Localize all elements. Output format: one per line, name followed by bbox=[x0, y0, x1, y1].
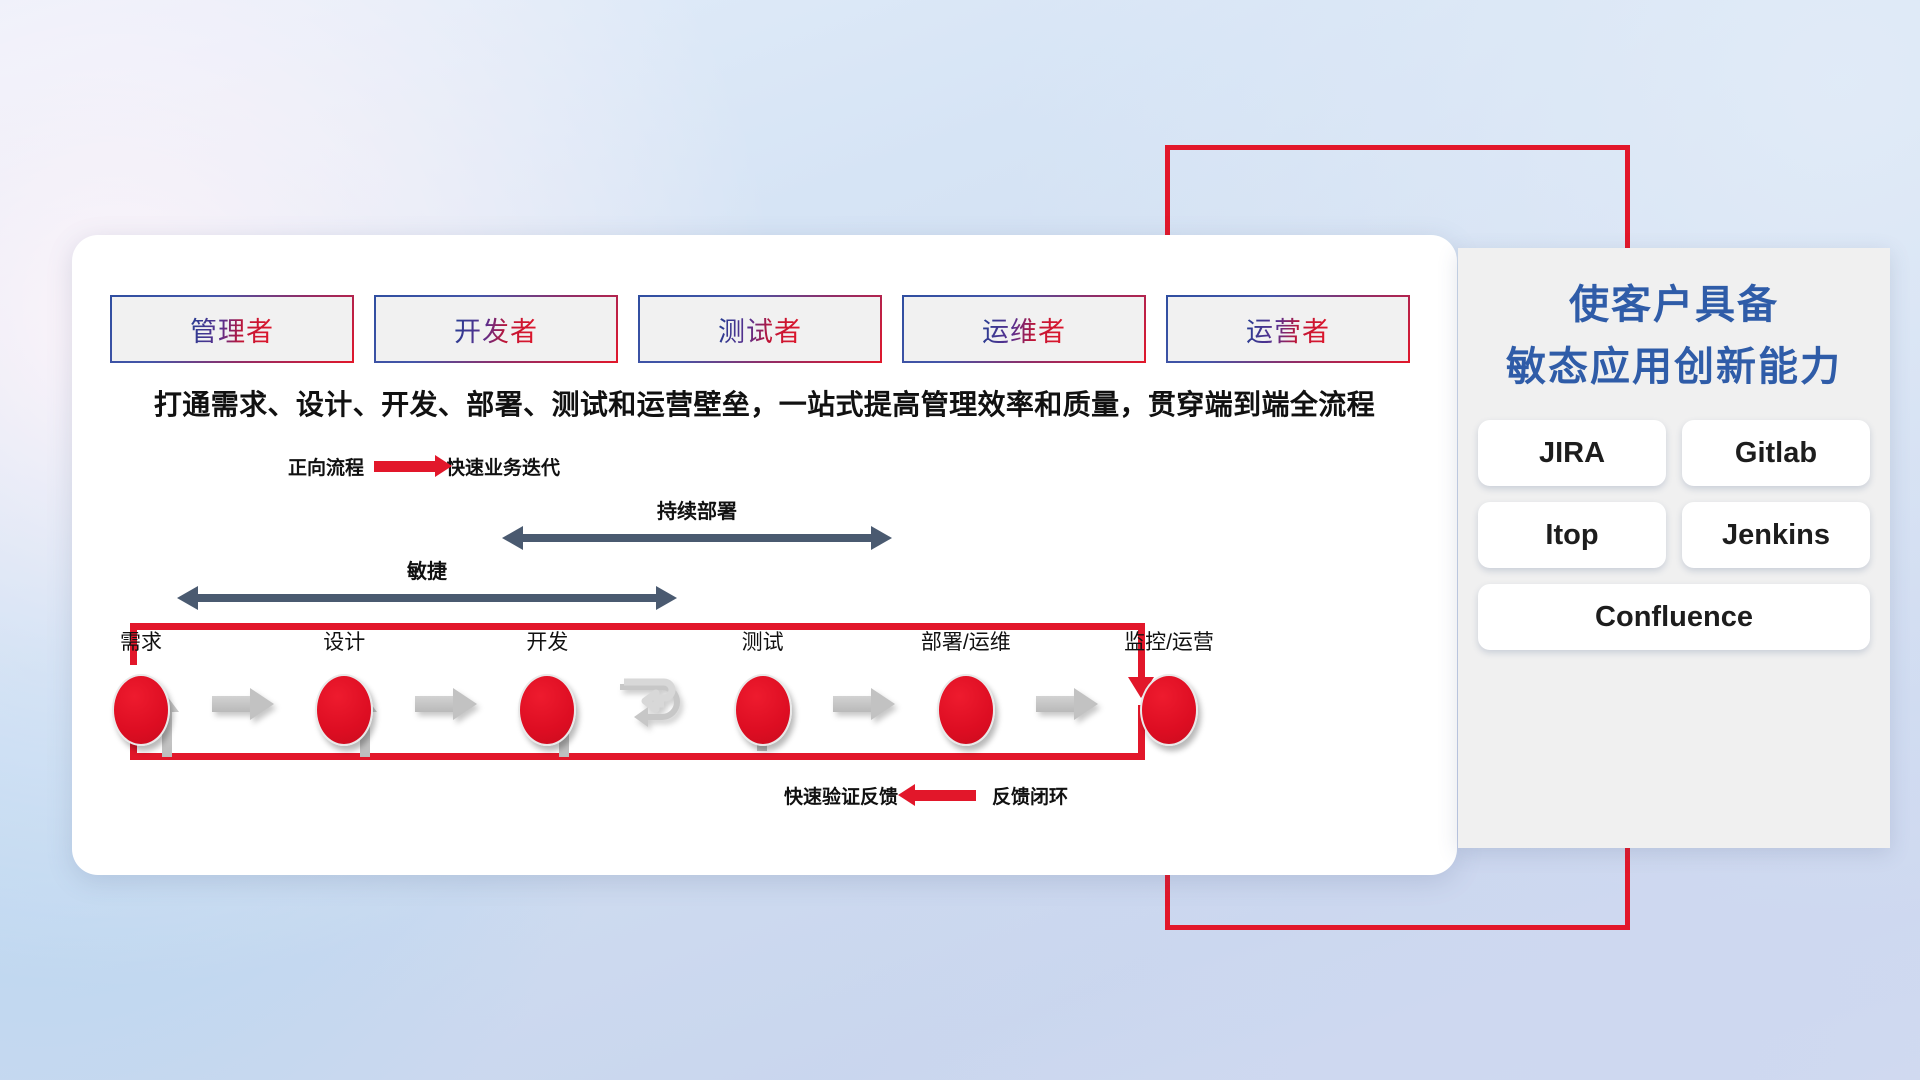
span-agile: 敏捷 bbox=[177, 585, 677, 611]
role-label: 开发者 bbox=[454, 310, 538, 349]
pipeline-node-monitor-operations[interactable]: 监控/运营 bbox=[1138, 660, 1200, 746]
span-bar bbox=[522, 534, 872, 542]
tools-panel-title: 使客户具备 敏态应用创新能力 bbox=[1458, 274, 1890, 398]
span-label-continuous-deploy: 持续部署 bbox=[502, 495, 892, 524]
devops-card: 管理者 开发者 测试者 运维者 运营者 打通需求、设计、开发、部署、测试和运营壁… bbox=[72, 235, 1457, 875]
tool-button-jira[interactable]: JIRA bbox=[1478, 420, 1666, 486]
red-arrow-right-icon bbox=[374, 461, 436, 472]
node-circle-icon bbox=[518, 674, 576, 746]
tool-button-confluence[interactable]: Confluence bbox=[1478, 584, 1870, 650]
tool-button-gitlab[interactable]: Gitlab bbox=[1682, 420, 1870, 486]
node-circle-icon bbox=[734, 674, 792, 746]
pipeline-gap bbox=[172, 691, 313, 715]
arrow-head-left-icon bbox=[177, 586, 198, 610]
legend-forward-flow: 正向流程 快速业务迭代 bbox=[288, 453, 560, 480]
pipeline-node-deploy-ops[interactable]: 部署/运维 bbox=[935, 660, 997, 746]
role-box-ops[interactable]: 运维者 bbox=[902, 295, 1146, 363]
pipeline-gap bbox=[794, 691, 935, 715]
tools-panel: 使客户具备 敏态应用创新能力 JIRA Gitlab Itop Jenkins … bbox=[1458, 248, 1890, 848]
role-box-row: 管理者 开发者 测试者 运维者 运营者 bbox=[110, 295, 1410, 363]
pipeline-node-develop[interactable]: 开发 bbox=[516, 660, 578, 746]
role-label: 管理者 bbox=[190, 310, 274, 349]
node-label: 部署/运维 bbox=[921, 626, 1011, 656]
pipeline-node-test[interactable]: 测试 bbox=[732, 660, 794, 746]
loop-arrow-icon bbox=[618, 676, 692, 730]
node-label: 需求 bbox=[120, 626, 162, 656]
node-label: 测试 bbox=[742, 626, 784, 656]
gray-arrow-right-icon bbox=[415, 691, 477, 715]
tool-button-itop[interactable]: Itop bbox=[1478, 502, 1666, 568]
node-circle-icon bbox=[112, 674, 170, 746]
pipeline-node-requirement[interactable]: 需求 bbox=[110, 660, 172, 746]
legend-forward-left-label: 正向流程 bbox=[288, 453, 364, 480]
role-box-tester[interactable]: 测试者 bbox=[638, 295, 882, 363]
legend-feedback-loop: 快速验证反馈 反馈闭环 bbox=[784, 782, 1068, 809]
arrow-head-left-icon bbox=[502, 526, 523, 550]
legend-feedback-left-label: 快速验证反馈 bbox=[784, 782, 898, 809]
node-circle-icon bbox=[1140, 674, 1198, 746]
node-label: 设计 bbox=[323, 626, 365, 656]
pipeline-node-design[interactable]: 设计 bbox=[313, 660, 375, 746]
gray-arrow-right-icon bbox=[212, 691, 274, 715]
span-continuous-deploy: 持续部署 bbox=[502, 525, 892, 551]
tools-title-line2: 敏态应用创新能力 bbox=[1458, 336, 1890, 398]
span-label-agile: 敏捷 bbox=[177, 555, 677, 584]
tool-button-jenkins[interactable]: Jenkins bbox=[1682, 502, 1870, 568]
arrow-head-right-icon bbox=[871, 526, 892, 550]
slide-canvas: 管理者 开发者 测试者 运维者 运营者 打通需求、设计、开发、部署、测试和运营壁… bbox=[0, 0, 1920, 1080]
arrow-head-right-icon bbox=[656, 586, 677, 610]
node-circle-icon bbox=[937, 674, 995, 746]
gray-arrow-right-icon bbox=[833, 691, 895, 715]
role-box-operations[interactable]: 运营者 bbox=[1166, 295, 1410, 363]
node-label: 监控/运营 bbox=[1124, 626, 1214, 656]
node-circle-icon bbox=[315, 674, 373, 746]
legend-forward-right-label: 快速业务迭代 bbox=[446, 453, 560, 480]
pipeline-gap bbox=[375, 691, 516, 715]
node-label: 开发 bbox=[526, 626, 568, 656]
role-label: 运营者 bbox=[1246, 310, 1330, 349]
role-box-manager[interactable]: 管理者 bbox=[110, 295, 354, 363]
legend-feedback-right-label: 反馈闭环 bbox=[992, 782, 1068, 809]
gray-arrow-right-icon bbox=[1036, 691, 1098, 715]
span-bar bbox=[197, 594, 657, 602]
role-label: 测试者 bbox=[718, 310, 802, 349]
tools-grid: JIRA Gitlab Itop Jenkins Confluence bbox=[1478, 420, 1870, 650]
red-arrow-left-icon bbox=[914, 790, 976, 801]
tools-title-line1: 使客户具备 bbox=[1458, 274, 1890, 336]
card-headline: 打通需求、设计、开发、部署、测试和运营壁垒，一站式提高管理效率和质量，贯穿端到端… bbox=[72, 383, 1457, 423]
role-box-developer[interactable]: 开发者 bbox=[374, 295, 618, 363]
pipeline-gap bbox=[997, 691, 1138, 715]
devops-pipeline: 需求 设计 开发 bbox=[110, 633, 1200, 773]
pipeline-gap-loop bbox=[578, 676, 731, 730]
role-label: 运维者 bbox=[982, 310, 1066, 349]
